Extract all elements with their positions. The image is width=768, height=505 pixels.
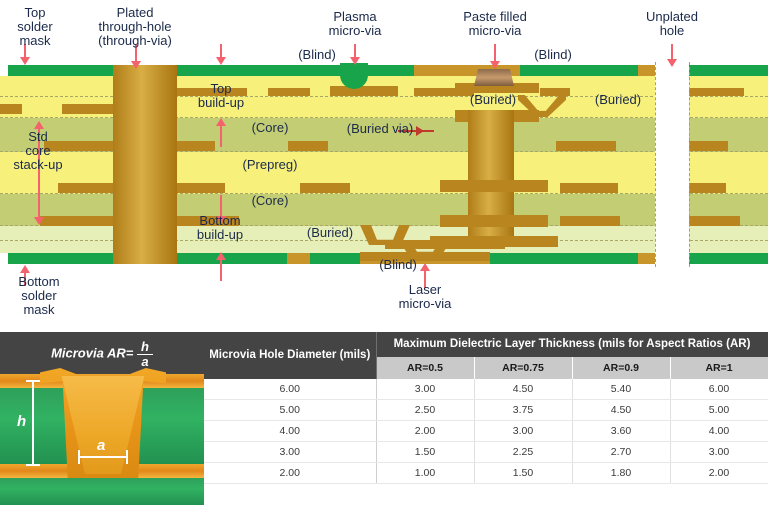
trace-m2 (288, 141, 328, 151)
trace-r2 (268, 88, 310, 96)
arrow-top-buildup-a (220, 44, 222, 58)
label-plasma-micro-via: Plasma micro-via (305, 10, 405, 38)
cell-ar-1: 4.00 (670, 421, 768, 442)
dim-width-line (78, 456, 128, 458)
buried-via-ring-2 (440, 215, 548, 227)
bottom-solder-mask-mid (177, 253, 287, 264)
table-header-row-main: Microvia Hole Diameter (mils) Maximum Di… (204, 332, 768, 357)
cell-ar-075: 1.50 (474, 463, 572, 484)
ar-fraction: h a (137, 340, 153, 368)
cell-ar-075: 3.00 (474, 421, 572, 442)
dim-height-line (32, 380, 34, 466)
subheader-ar-1: AR=1 (670, 357, 768, 379)
cell-ar-1: 5.00 (670, 400, 768, 421)
unplated-hole-edge-left (655, 62, 656, 267)
table-row: 4.00 2.00 3.00 3.60 4.00 (204, 421, 768, 442)
formula-prefix: Microvia AR= (51, 346, 133, 361)
paste-filled-micro-via (474, 69, 514, 86)
dim-height-cap-top (26, 380, 40, 382)
cell-ar-05: 3.00 (376, 379, 474, 400)
cell-diameter: 2.00 (204, 463, 376, 484)
fraction-numerator: h (137, 340, 153, 355)
dim-width-cap-left (78, 450, 80, 464)
label-core-upper: (Core) (210, 121, 330, 135)
trace-r6 (684, 88, 744, 96)
pcb-cross-section-diagram: Top solder mask Plated through-hole (thr… (0, 0, 768, 330)
trace-r5 (540, 88, 570, 96)
cell-ar-09: 2.70 (572, 442, 670, 463)
table-row: 6.00 3.00 4.50 5.40 6.00 (204, 379, 768, 400)
fraction-denominator: a (137, 355, 153, 369)
bottom-solder-mask-left (8, 253, 113, 264)
label-std-core-stackup: Std core stack-up (0, 130, 76, 172)
plasma-via-pad (330, 86, 398, 95)
arrow-plasma-micro-via (354, 44, 356, 58)
label-prepreg: (Prepreg) (210, 158, 330, 172)
subheader-ar-05: AR=0.5 (376, 357, 474, 379)
cell-diameter: 5.00 (204, 400, 376, 421)
plated-through-hole-barrel (113, 65, 177, 264)
label-top-buildup: Top build-up (185, 82, 257, 110)
label-blind-right: (Blind) (523, 48, 583, 62)
label-unplated-hole: Unplated hole (624, 10, 720, 38)
buried-via-ring-1 (440, 180, 548, 192)
cell-ar-09: 5.40 (572, 379, 670, 400)
label-buried-right: (Buried) (583, 93, 653, 107)
unplated-hole (655, 62, 689, 267)
dim-width-label: a (97, 437, 105, 454)
label-plated-through-hole: Plated through-hole (through-via) (65, 6, 205, 48)
subheader-ar-09: AR=0.9 (572, 357, 670, 379)
inner-trace-l4 (40, 216, 120, 226)
cell-ar-075: 4.50 (474, 379, 572, 400)
microvia-ar-formula: Microvia AR= h a (0, 340, 204, 368)
cell-ar-075: 2.25 (474, 442, 572, 463)
label-blind-bottom: (Blind) (368, 258, 428, 272)
trace-m3 (556, 141, 616, 151)
bottom-solder-mask-mid2 (310, 253, 360, 264)
dim-height-cap-bottom (26, 464, 40, 466)
subheader-ar-075: AR=0.75 (474, 357, 572, 379)
inner-trace-l0 (0, 104, 22, 114)
top-solder-mask-left (8, 65, 113, 76)
arrow-unplated-hole (671, 44, 673, 60)
arrow-paste-filled-micro-via (494, 44, 496, 62)
top-solder-mask-right (520, 65, 638, 76)
label-top-solder-mask: Top solder mask (0, 6, 70, 48)
inner-trace-l3 (58, 183, 120, 193)
label-laser-micro-via: Laser micro-via (385, 283, 465, 311)
header-hole-diameter: Microvia Hole Diameter (mils) (204, 332, 376, 379)
dielectric-thickness-table: Microvia Hole Diameter (mils) Maximum Di… (204, 332, 768, 505)
dim-height-label: h (17, 413, 26, 430)
cell-ar-1: 2.00 (670, 463, 768, 484)
trace-n2 (300, 183, 350, 193)
label-paste-filled-micro-via: Paste filled micro-via (440, 10, 550, 38)
cell-diameter: 4.00 (204, 421, 376, 442)
cell-ar-09: 4.50 (572, 400, 670, 421)
inner-trace-l1 (62, 104, 120, 114)
unplated-hole-edge-right (689, 62, 690, 267)
microvia-aspect-ratio-photo: Microvia AR= h a h a (0, 332, 204, 505)
cell-ar-09: 1.80 (572, 463, 670, 484)
cell-diameter: 6.00 (204, 379, 376, 400)
trace-m1 (177, 141, 215, 151)
table-row: 5.00 2.50 3.75 4.50 5.00 (204, 400, 768, 421)
bottom-copper-foil-2 (287, 253, 310, 264)
label-core-lower: (Core) (210, 194, 330, 208)
cell-ar-05: 2.50 (376, 400, 474, 421)
header-max-dielectric-thickness: Maximum Dielectric Layer Thickness (mils… (376, 332, 768, 357)
cell-ar-1: 3.00 (670, 442, 768, 463)
dim-width-cap-right (126, 450, 128, 464)
arrow-bottom-buildup (220, 259, 222, 281)
trace-n3 (560, 183, 618, 193)
table-row: 2.00 1.00 1.50 1.80 2.00 (204, 463, 768, 484)
top-solder-mask-mid (177, 65, 352, 76)
cell-ar-05: 2.00 (376, 421, 474, 442)
cell-ar-075: 3.75 (474, 400, 572, 421)
bottom-solder-mask-right (490, 253, 638, 264)
trace-n1 (177, 183, 225, 193)
cell-ar-1: 6.00 (670, 379, 768, 400)
cell-ar-05: 1.50 (376, 442, 474, 463)
label-blind-left: (Blind) (287, 48, 347, 62)
cell-ar-05: 1.00 (376, 463, 474, 484)
table-element: Microvia Hole Diameter (mils) Maximum Di… (204, 332, 768, 484)
cell-ar-09: 3.60 (572, 421, 670, 442)
trace-p2 (560, 216, 620, 226)
label-bottom-buildup: Bottom build-up (180, 214, 260, 242)
label-buried-via: (Buried via) (330, 122, 430, 136)
photo-dielectric-layer-2 (0, 478, 204, 505)
label-bottom-solder-mask: Bottom solder mask (0, 275, 78, 317)
label-buried-mid: (Buried) (458, 93, 528, 107)
cell-diameter: 3.00 (204, 442, 376, 463)
table-row: 3.00 1.50 2.25 2.70 3.00 (204, 442, 768, 463)
label-buried-bottom: (Buried) (295, 226, 365, 240)
